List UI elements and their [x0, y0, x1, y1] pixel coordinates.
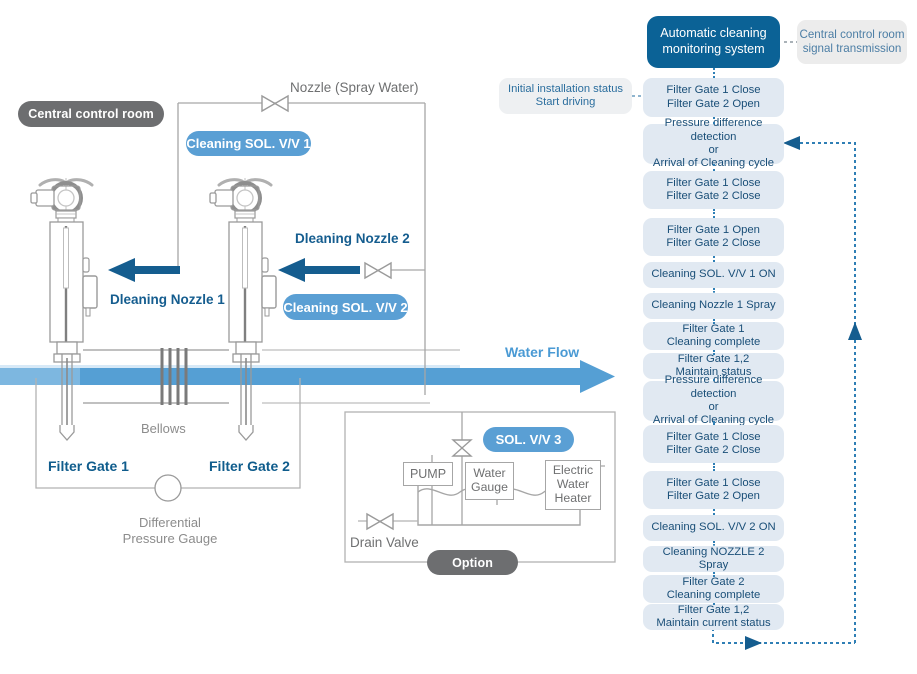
flowchart-step-13[interactable]: Cleaning NOZZLE 2 Spray: [643, 546, 784, 572]
cleaning-nozzle-1-label: Dleaning Nozzle 1: [110, 292, 225, 307]
flowchart-connector-4: [713, 209, 715, 218]
valve-symbol-drain: [367, 514, 393, 529]
valve-symbol-nozzle2: [365, 263, 391, 278]
central-control-room-label: Central control room: [28, 107, 154, 121]
sol-vv-3-label: SOL. V/V 3: [496, 432, 562, 447]
flowchart-connector-12: [713, 509, 715, 515]
flowchart-connector-7: [713, 319, 715, 322]
flowchart-connector-5: [713, 256, 715, 262]
flowchart-step-3[interactable]: Filter Gate 1 Close Filter Gate 2 Close: [643, 171, 784, 209]
flowchart-step-10[interactable]: Filter Gate 1 Close Filter Gate 2 Close: [643, 425, 784, 463]
flowchart-step-11[interactable]: Filter Gate 1 Close Filter Gate 2 Open: [643, 471, 784, 509]
nozzle-spray-water-label: Nozzle (Spray Water): [290, 80, 419, 95]
flowchart-header[interactable]: Automatic cleaning monitoring system: [647, 16, 780, 68]
flowchart-step-15[interactable]: Filter Gate 1,2 Maintain current status: [643, 604, 784, 630]
drain-valve-label: Drain Valve: [350, 535, 419, 550]
central-control-room-signal-box[interactable]: Central control room signal transmission: [797, 20, 907, 64]
flowchart-connector-13: [713, 541, 715, 546]
main-pipe: [83, 350, 460, 403]
pump-box: PUMP: [403, 462, 453, 486]
flowchart-connector-3: [713, 164, 715, 171]
flowchart-step-14[interactable]: Filter Gate 2 Cleaning complete: [643, 575, 784, 603]
flowchart-step-5[interactable]: Cleaning SOL. V/V 1 ON: [643, 262, 784, 288]
filter-gate-1-assembly: [31, 178, 97, 440]
flowchart-step-2[interactable]: Pressure difference detection or Arrival…: [643, 124, 784, 164]
flowchart-connector-8: [713, 350, 715, 353]
water-flow-label: Water Flow: [505, 344, 579, 360]
initial-installation-status-box[interactable]: Initial installation status Start drivin…: [499, 78, 632, 114]
option-label: Option: [452, 556, 493, 570]
flowchart-connector-2: [713, 117, 715, 124]
water-gauge-label: Water Gauge: [471, 467, 508, 495]
electric-water-heater-label: Electric Water Heater: [553, 464, 593, 505]
pump-label: PUMP: [410, 467, 446, 481]
differential-pressure-loop: [36, 378, 300, 501]
diagram-root: Central control room Nozzle (Spray Water…: [0, 0, 917, 674]
flowchart-connector-6: [713, 288, 715, 293]
valve-symbol-top: [262, 96, 288, 111]
bellows-label: Bellows: [141, 421, 186, 436]
option-pill[interactable]: Option: [427, 550, 518, 575]
valve-symbol-sol-vv3: [453, 440, 471, 456]
water-gauge-box: Water Gauge: [465, 462, 514, 500]
cleaning-nozzle-2-label: Dleaning Nozzle 2: [295, 231, 410, 246]
filter-gate-1-label: Filter Gate 1: [48, 458, 129, 474]
flowchart-connector-14: [713, 572, 715, 575]
filter-gate-2-assembly: [210, 178, 276, 440]
nozzle-spray-arrows: [108, 258, 360, 282]
water-flow-band: [0, 360, 615, 393]
flowchart-connector-10: [713, 421, 715, 425]
cleaning-sol-vv-1-label: Cleaning SOL. V/V 1: [186, 136, 310, 151]
flowchart-connector-15: [713, 603, 715, 605]
cleaning-sol-vv-2-label: Cleaning SOL. V/V 2: [283, 300, 407, 315]
flowchart-step-7[interactable]: Filter Gate 1 Cleaning complete: [643, 322, 784, 350]
flowchart-connector-9: [713, 379, 715, 381]
flowchart-step-9[interactable]: Pressure difference detection or Arrival…: [643, 381, 784, 421]
cleaning-sol-vv-1-pill[interactable]: Cleaning SOL. V/V 1: [186, 131, 311, 156]
flowchart-step-4[interactable]: Filter Gate 1 Open Filter Gate 2 Close: [643, 218, 784, 256]
flowchart-step-12[interactable]: Cleaning SOL. V/V 2 ON: [643, 515, 784, 541]
bellows-icon: [162, 348, 186, 405]
central-control-room-pill[interactable]: Central control room: [18, 101, 164, 127]
electric-water-heater-box: Electric Water Heater: [545, 460, 601, 510]
differential-pressure-gauge-label: Differential Pressure Gauge: [110, 515, 230, 548]
cleaning-sol-vv-2-pill[interactable]: Cleaning SOL. V/V 2: [283, 294, 408, 320]
flowchart-step-1[interactable]: Filter Gate 1 Close Filter Gate 2 Open: [643, 78, 784, 117]
filter-gate-2-label: Filter Gate 2: [209, 458, 290, 474]
flowchart-connector-1: [713, 68, 715, 78]
flowchart-connector-11: [713, 463, 715, 471]
sol-vv-3-pill[interactable]: SOL. V/V 3: [483, 427, 574, 452]
flowchart-step-6[interactable]: Cleaning Nozzle 1 Spray: [643, 293, 784, 319]
